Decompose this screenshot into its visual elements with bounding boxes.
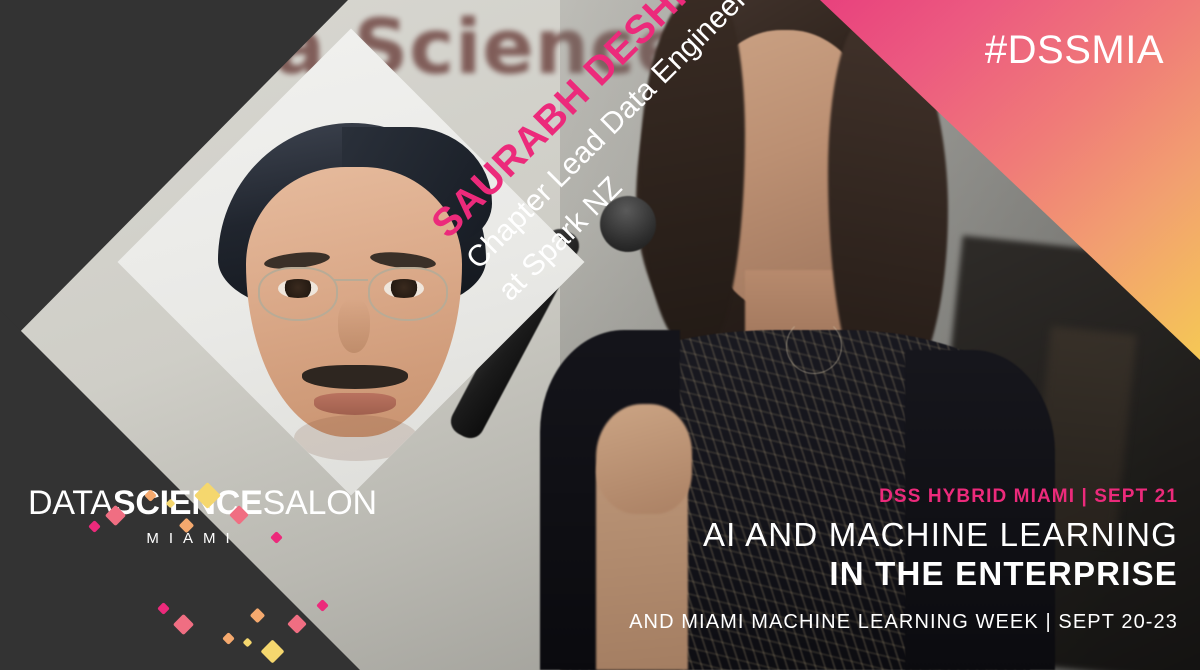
hashtag-label: #DSSMIA (985, 28, 1164, 73)
event-details-block: DSS HYBRID MIAMI | SEPT 21 AI AND MACHIN… (558, 486, 1178, 634)
event-title-line-1: AI AND MACHINE LEARNING (558, 516, 1178, 554)
logo-city-label: MIAMI (28, 530, 348, 547)
portrait-nose (338, 299, 370, 353)
portrait-glasses-bridge (334, 279, 368, 281)
logo-word-salon: SALON (263, 484, 377, 522)
logo-word-science: SCIENCE (113, 484, 263, 522)
event-title-line-2: IN THE ENTERPRISE (558, 555, 1178, 593)
event-kicker: DSS HYBRID MIAMI | SEPT 21 (558, 486, 1178, 508)
portrait-glasses-left (258, 267, 338, 321)
portrait-glasses-right (368, 267, 448, 321)
event-footer-note: AND MIAMI MACHINE LEARNING WEEK | SEPT 2… (558, 611, 1178, 634)
data-science-salon-logo: DATASCIENCESALON MIAMI (28, 486, 348, 547)
portrait-mustache (302, 365, 408, 389)
event-promo-poster: Data Science Cult (0, 0, 1200, 670)
logo-wordmark: DATASCIENCESALON (28, 486, 348, 520)
logo-word-data: DATA (28, 484, 113, 522)
portrait-lips (314, 393, 396, 415)
speaker-necklace (786, 318, 842, 374)
